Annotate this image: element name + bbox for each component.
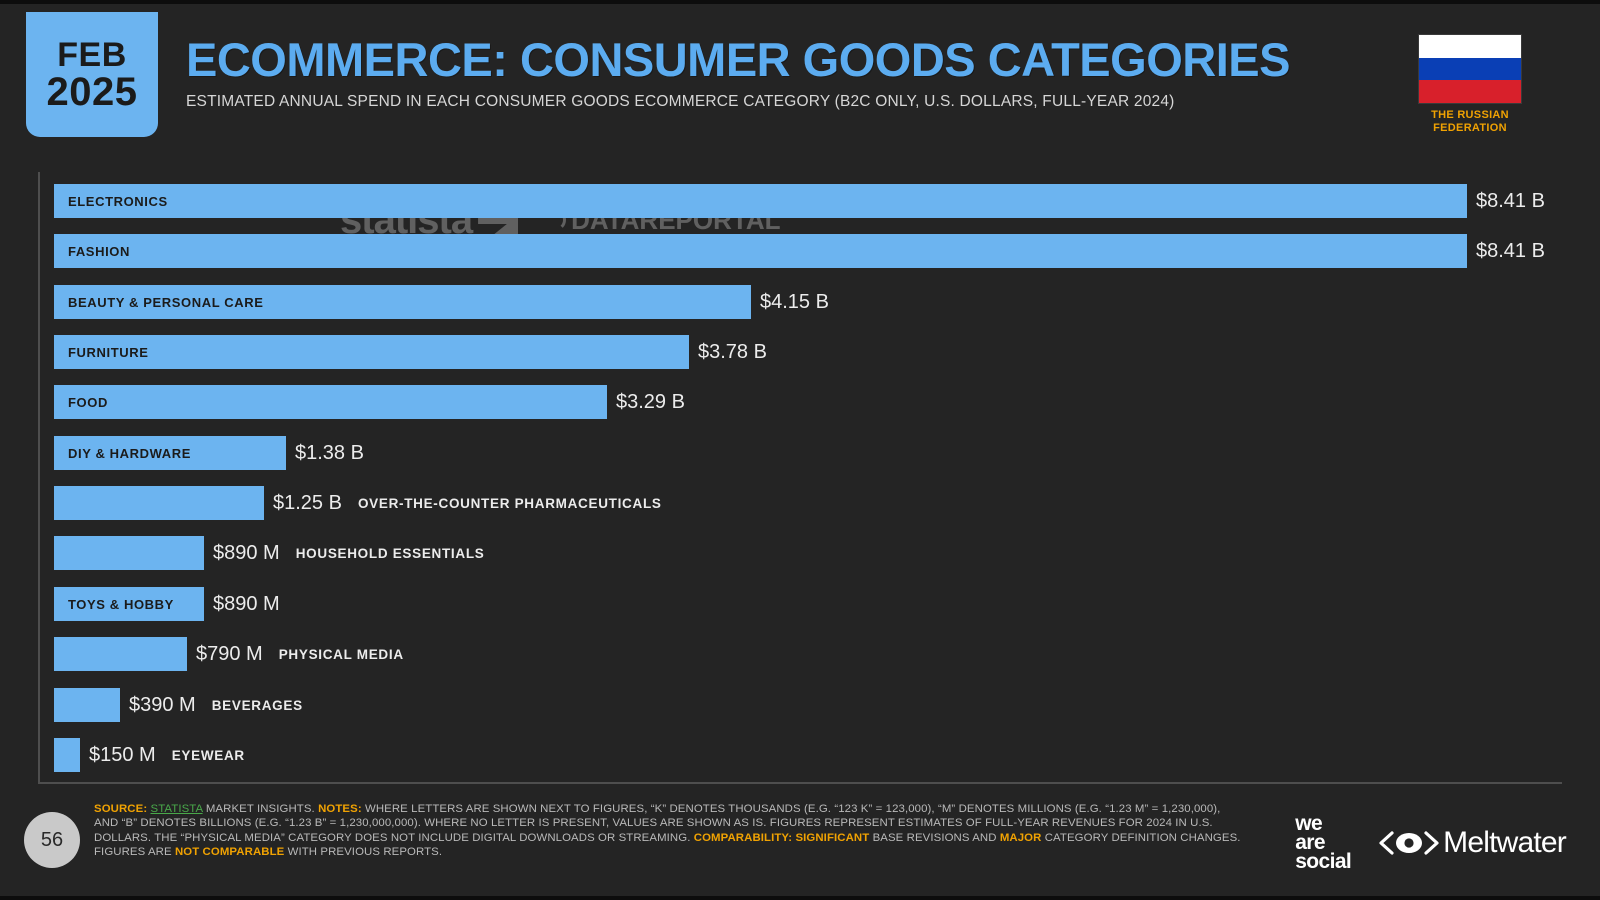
meltwater-logo: Meltwater: [1379, 826, 1566, 860]
bar-row: BEAUTY & PERSONAL CARE$4.15 B: [54, 285, 829, 319]
source-notes: SOURCE: STATISTA MARKET INSIGHTS. NOTES:…: [94, 802, 1244, 859]
flag-stripe-white: [1419, 35, 1521, 58]
bar-row: $790 MPHYSICAL MEDIA: [54, 637, 404, 671]
bar-value-label: $3.78 B: [698, 341, 767, 364]
bar-category-label: PHYSICAL MEDIA: [279, 647, 404, 662]
bar-value-label: $890 M: [213, 542, 280, 565]
bar-value-label: $4.15 B: [760, 291, 829, 314]
country-block: THE RUSSIAN FEDERATION: [1418, 34, 1522, 134]
bar-category-label: FOOD: [54, 395, 108, 410]
bar-chart: statista DATAREPORTAL ELECTRONICS$8.41 B…: [38, 172, 1562, 784]
bar-category-label: OVER-THE-COUNTER PHARMACEUTICALS: [358, 496, 662, 511]
bar-value-label: $1.25 B: [273, 492, 342, 515]
slide-root: FEB 2025 ECOMMERCE: CONSUMER GOODS CATEG…: [0, 0, 1600, 900]
bar[interactable]: FOOD: [54, 385, 607, 419]
bar-row: ELECTRONICS$8.41 B: [54, 184, 1545, 218]
bar-category-label: BEAUTY & PERSONAL CARE: [54, 295, 263, 310]
date-badge-month: FEB: [57, 38, 127, 72]
bar-row: $890 MHOUSEHOLD ESSENTIALS: [54, 536, 485, 570]
bar[interactable]: TOYS & HOBBY: [54, 587, 204, 621]
bar-value-label: $390 M: [129, 694, 196, 717]
bar-category-label: FURNITURE: [54, 345, 149, 360]
slide-header: FEB 2025 ECOMMERCE: CONSUMER GOODS CATEG…: [0, 4, 1600, 154]
bar[interactable]: ELECTRONICS: [54, 184, 1467, 218]
notes-segment: BASE REVISIONS AND: [869, 832, 1000, 844]
bar-value-label: $150 M: [89, 744, 156, 767]
bar-row: $1.25 BOVER-THE-COUNTER PHARMACEUTICALS: [54, 486, 662, 520]
bar-value-label: $8.41 B: [1476, 240, 1545, 263]
bar[interactable]: [54, 688, 120, 722]
russian-federation-flag-icon: [1418, 34, 1522, 104]
meltwater-eye-icon: [1379, 830, 1439, 856]
bar[interactable]: FASHION: [54, 234, 1467, 268]
page-subtitle: ESTIMATED ANNUAL SPEND IN EACH CONSUMER …: [186, 93, 1175, 111]
date-badge-year: 2025: [47, 72, 138, 112]
we-are-social-logo-line: social: [1295, 852, 1351, 871]
bar-value-label: $3.29 B: [616, 391, 685, 414]
notes-segment: MAJOR: [1000, 832, 1042, 844]
bar-category-label: DIY & HARDWARE: [54, 446, 191, 461]
bar[interactable]: DIY & HARDWARE: [54, 436, 286, 470]
we-are-social-logo: wearesocial: [1295, 814, 1351, 871]
notes-segment: SOURCE:: [94, 803, 147, 815]
notes-segment: SIGNIFICANT: [795, 832, 869, 844]
bar-value-label: $1.38 B: [295, 442, 364, 465]
bar-value-label: $790 M: [196, 643, 263, 666]
bar-row: $390 MBEVERAGES: [54, 688, 303, 722]
bar[interactable]: BEAUTY & PERSONAL CARE: [54, 285, 751, 319]
slide-footer: 56 SOURCE: STATISTA MARKET INSIGHTS. NOT…: [0, 792, 1600, 900]
bar-category-label: ELECTRONICS: [54, 194, 168, 209]
notes-segment: MARKET INSIGHTS.: [203, 803, 319, 815]
date-badge: FEB 2025: [26, 12, 158, 137]
bar[interactable]: [54, 536, 204, 570]
notes-segment: NOT COMPARABLE: [175, 846, 284, 858]
notes-segment[interactable]: STATISTA: [151, 803, 203, 815]
bar[interactable]: [54, 738, 80, 772]
page-number-badge: 56: [24, 812, 80, 868]
bar[interactable]: [54, 486, 264, 520]
bar-row: FURNITURE$3.78 B: [54, 335, 767, 369]
notes-segment: NOTES:: [318, 803, 362, 815]
bar-value-label: $890 M: [213, 593, 280, 616]
notes-segment: WITH PREVIOUS REPORTS.: [284, 846, 442, 858]
notes-segment: COMPARABILITY:: [694, 832, 792, 844]
page-title: ECOMMERCE: CONSUMER GOODS CATEGORIES: [186, 32, 1290, 87]
bar-row: $150 MEYEWEAR: [54, 738, 245, 772]
bar[interactable]: [54, 637, 187, 671]
bar-category-label: FASHION: [54, 244, 130, 259]
flag-stripe-blue: [1419, 58, 1521, 81]
bar-category-label: EYEWEAR: [172, 748, 245, 763]
bar-value-label: $8.41 B: [1476, 190, 1545, 213]
country-label: THE RUSSIAN FEDERATION: [1418, 109, 1522, 134]
bar-row: FOOD$3.29 B: [54, 385, 685, 419]
bar[interactable]: FURNITURE: [54, 335, 689, 369]
bar-row: TOYS & HOBBY$890 M: [54, 587, 280, 621]
meltwater-wordmark: Meltwater: [1443, 826, 1566, 860]
bar-category-label: TOYS & HOBBY: [54, 597, 174, 612]
bar-category-label: HOUSEHOLD ESSENTIALS: [296, 546, 485, 561]
logo-group: wearesocial Meltwater: [1295, 814, 1566, 871]
bar-row: DIY & HARDWARE$1.38 B: [54, 436, 364, 470]
bar-row: FASHION$8.41 B: [54, 234, 1545, 268]
bar-category-label: BEVERAGES: [212, 698, 303, 713]
flag-stripe-red: [1419, 80, 1521, 103]
